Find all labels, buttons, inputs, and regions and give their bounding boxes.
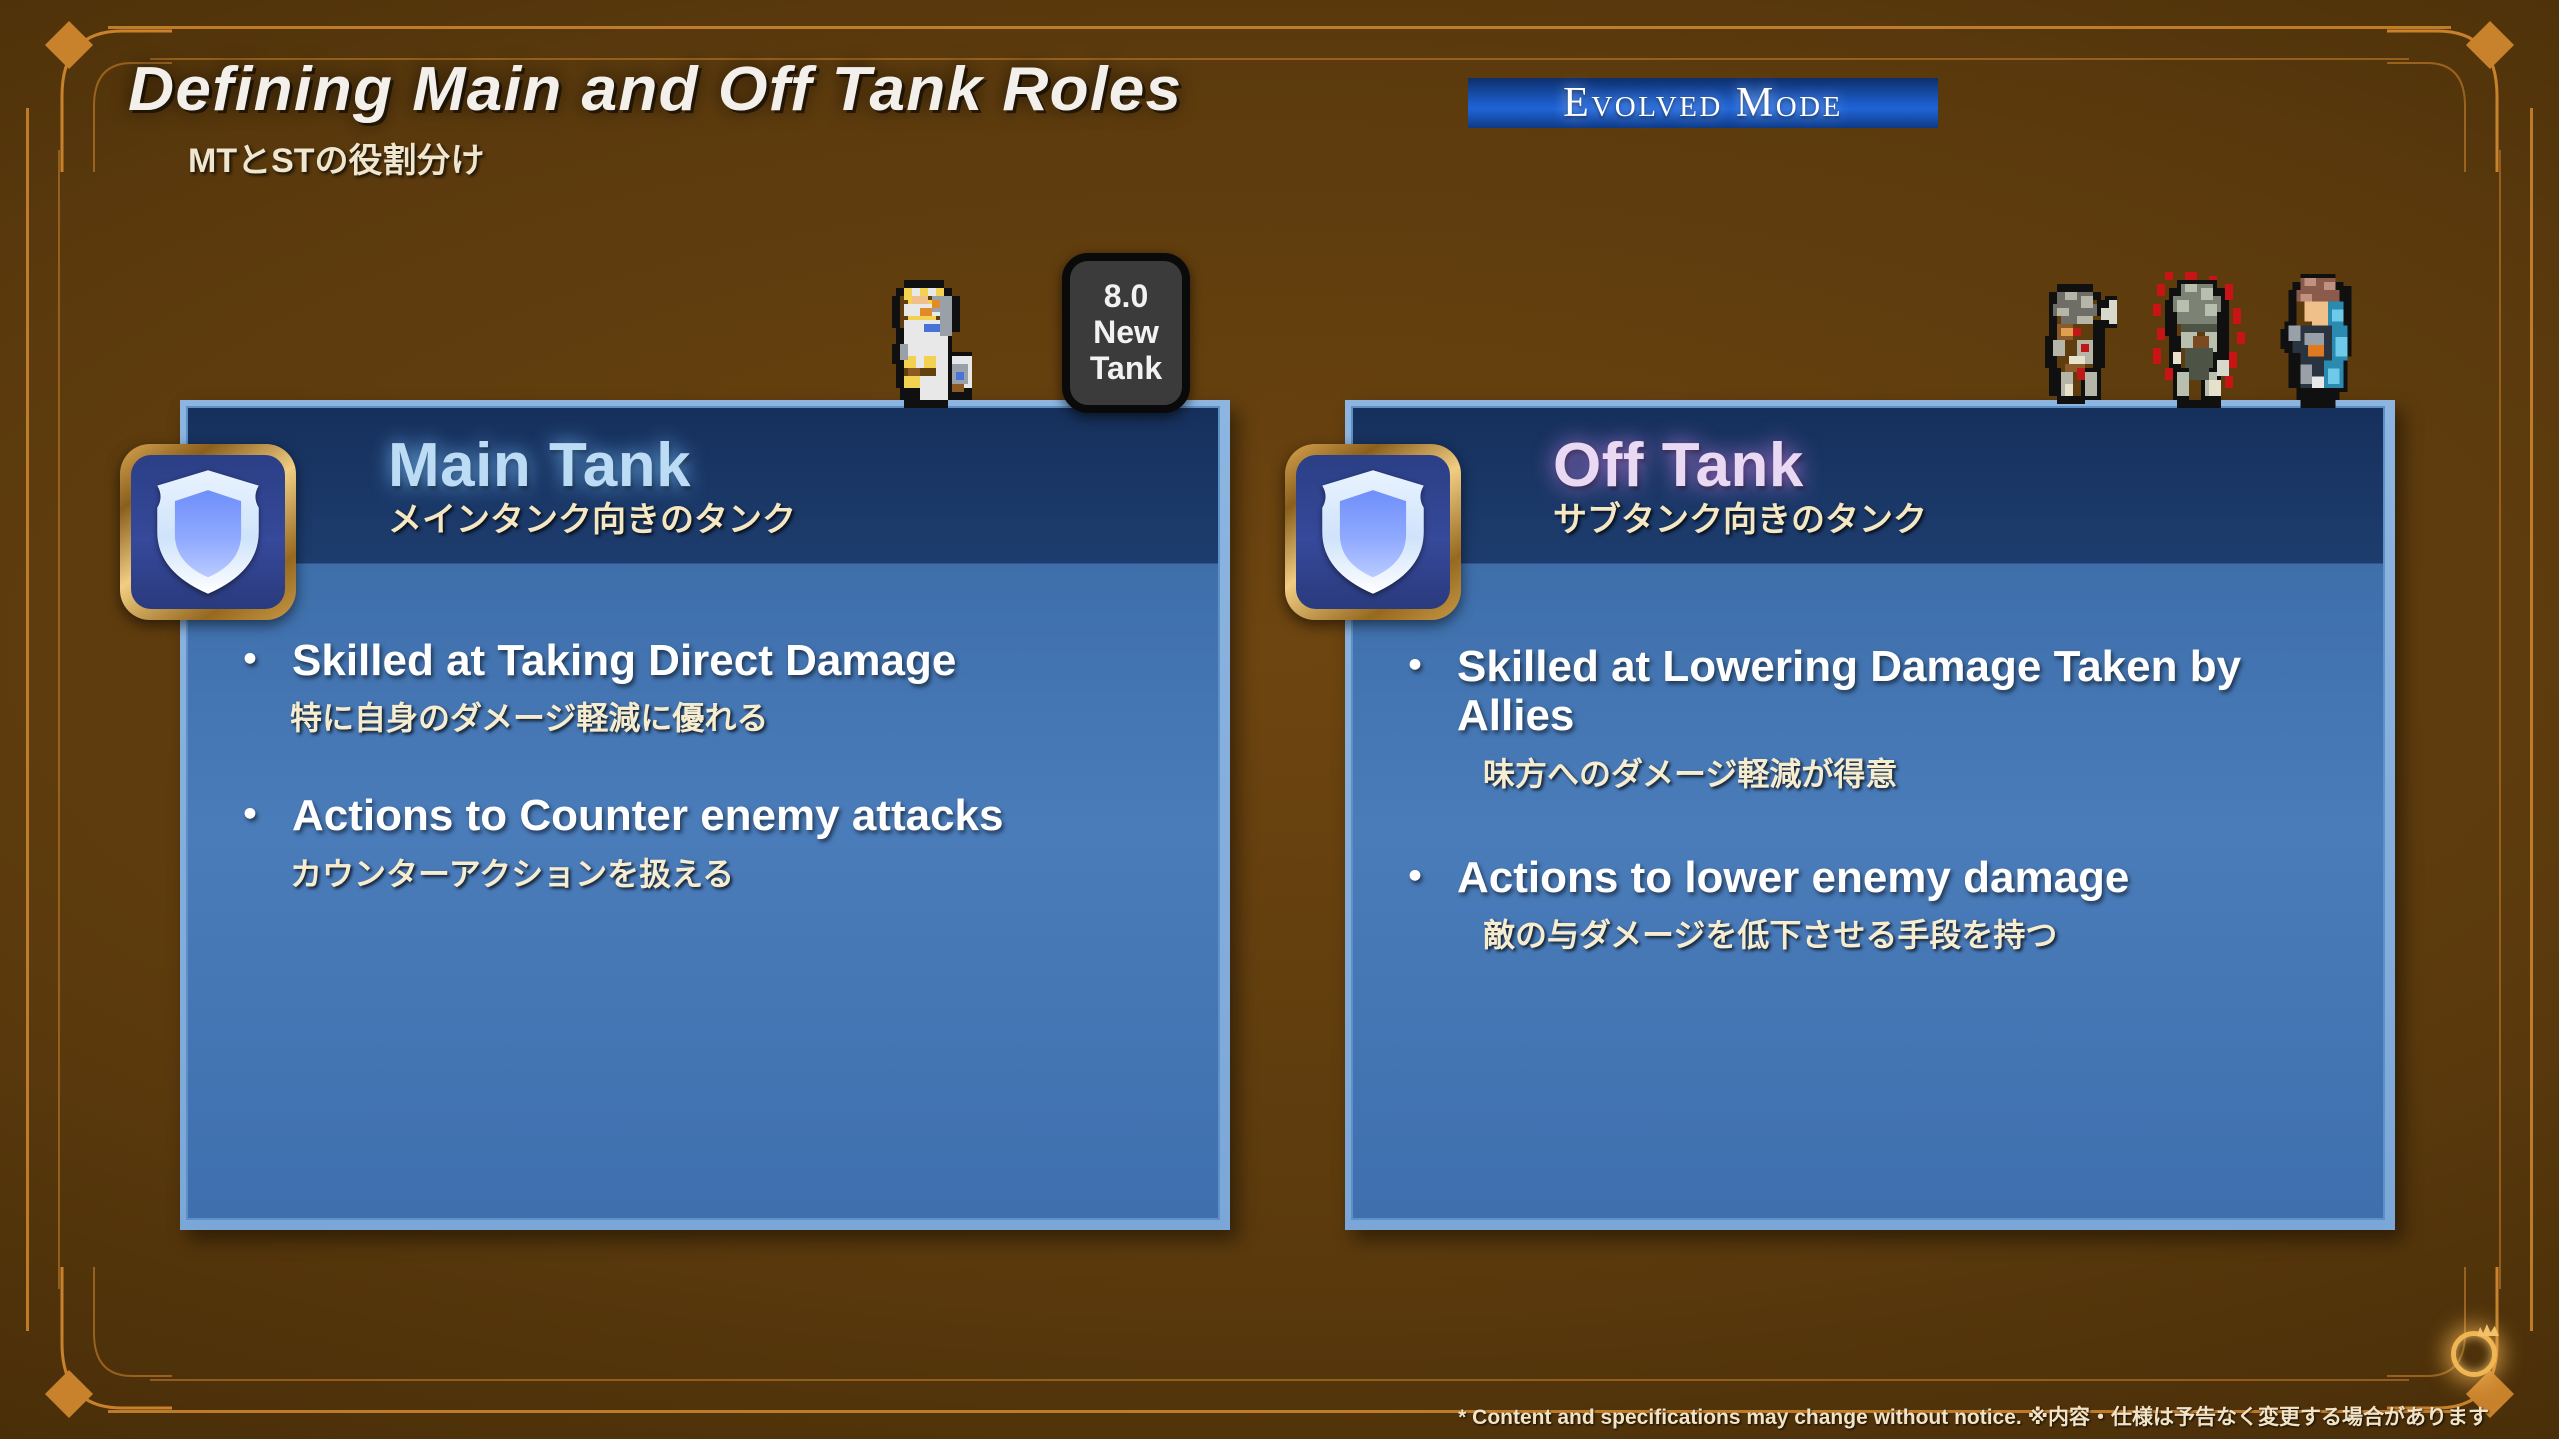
list-item: ・ Skilled at Lowering Damage Taken by Al… (1393, 642, 2343, 795)
bullet-text-ja: 味方へのダメージ軽減が得意 (1483, 749, 2343, 795)
footer-disclaimer: * Content and specifications may change … (1458, 1401, 2489, 1431)
bullet-text-en: Skilled at Lowering Damage Taken by Alli… (1457, 642, 2343, 741)
bullet-marker-icon: ・ (228, 636, 272, 685)
frame-inner-bottom-line (150, 1379, 2409, 1381)
frame-inner-left-line (58, 150, 60, 1289)
card-off-tank: Off Tank サブタンク向きのタンク ・ Skilled at Loweri… (1345, 400, 2395, 1230)
frame-left-line (26, 108, 29, 1331)
evolved-mode-label: Evolved Mode (1563, 79, 1843, 127)
bullet-text-en: Actions to Counter enemy attacks (292, 791, 1004, 840)
bullet-marker-icon: ・ (1393, 642, 1437, 741)
frame-top-line (108, 26, 2451, 29)
role-subtitle-main-tank: メインタンク向きのタンク (388, 503, 796, 537)
bullet-text-en: Skilled at Taking Direct Damage (292, 636, 956, 685)
gunbreaker-sprite (2265, 274, 2375, 408)
bullet-text-en: Actions to lower enemy damage (1457, 853, 2129, 902)
card-header-off-tank: Off Tank サブタンク向きのタンク (1353, 408, 2383, 564)
frame-right-line (2530, 108, 2533, 1331)
bullet-text-ja: カウンターアクションを扱える (290, 849, 1178, 895)
bullet-text-ja: 特に自身のダメージ軽減に優れる (290, 693, 1178, 739)
slide-header: Defining Main and Off Tank Roles MTとSTの役… (128, 58, 1152, 182)
role-subtitle-off-tank: サブタンク向きのタンク (1553, 503, 1927, 537)
corner-ornament-icon (2385, 4, 2555, 174)
list-item: ・ Skilled at Taking Direct Damage 特に自身のダ… (228, 636, 1178, 739)
card-header-main-tank: Main Tank メインタンク向きのタンク (188, 408, 1218, 564)
evolved-mode-badge: Evolved Mode (1468, 78, 1938, 128)
bullet-marker-icon: ・ (228, 791, 272, 840)
corner-ornament-icon (4, 1265, 174, 1435)
card-body-main-tank: ・ Skilled at Taking Direct Damage 特に自身のダ… (188, 564, 1218, 895)
role-title-off-tank: Off Tank (1553, 435, 1927, 497)
new-tank-badge-line2: New (1093, 315, 1159, 351)
new-tank-badge-line3: Tank (1090, 351, 1162, 387)
bullet-marker-icon: ・ (1393, 853, 1437, 902)
role-title-main-tank: Main Tank (388, 435, 796, 497)
warrior-sprite (2041, 280, 2145, 408)
page-subtitle-japanese: MTとSTの役割分け (188, 133, 1152, 182)
sprite-group-off-tank (2041, 272, 2375, 408)
bullet-text-ja: 敵の与ダメージを低下させる手段を持つ (1483, 910, 2343, 956)
frame-inner-right-line (2499, 150, 2501, 1289)
slide-root: Defining Main and Off Tank Roles MTとSTの役… (0, 0, 2559, 1439)
sprite-group-main-tank (872, 276, 980, 408)
new-tank-badge-version: 8.0 (1104, 279, 1148, 315)
list-item: ・ Actions to Counter enemy attacks カウンター… (228, 791, 1178, 894)
paladin-sprite (872, 276, 980, 408)
corner-glow-orb-icon (2451, 1331, 2497, 1377)
new-tank-badge: 8.0 New Tank (1062, 253, 1190, 413)
card-main-tank: 8.0 New Tank Main Tank メインタンク向きのタンク ・ Sk… (180, 400, 1230, 1230)
list-item: ・ Actions to lower enemy damage 敵の与ダメージを… (1393, 853, 2343, 956)
card-body-off-tank: ・ Skilled at Lowering Damage Taken by Al… (1353, 564, 2383, 956)
page-title: Defining Main and Off Tank Roles (128, 58, 1182, 121)
dark-knight-sprite (2149, 272, 2261, 408)
